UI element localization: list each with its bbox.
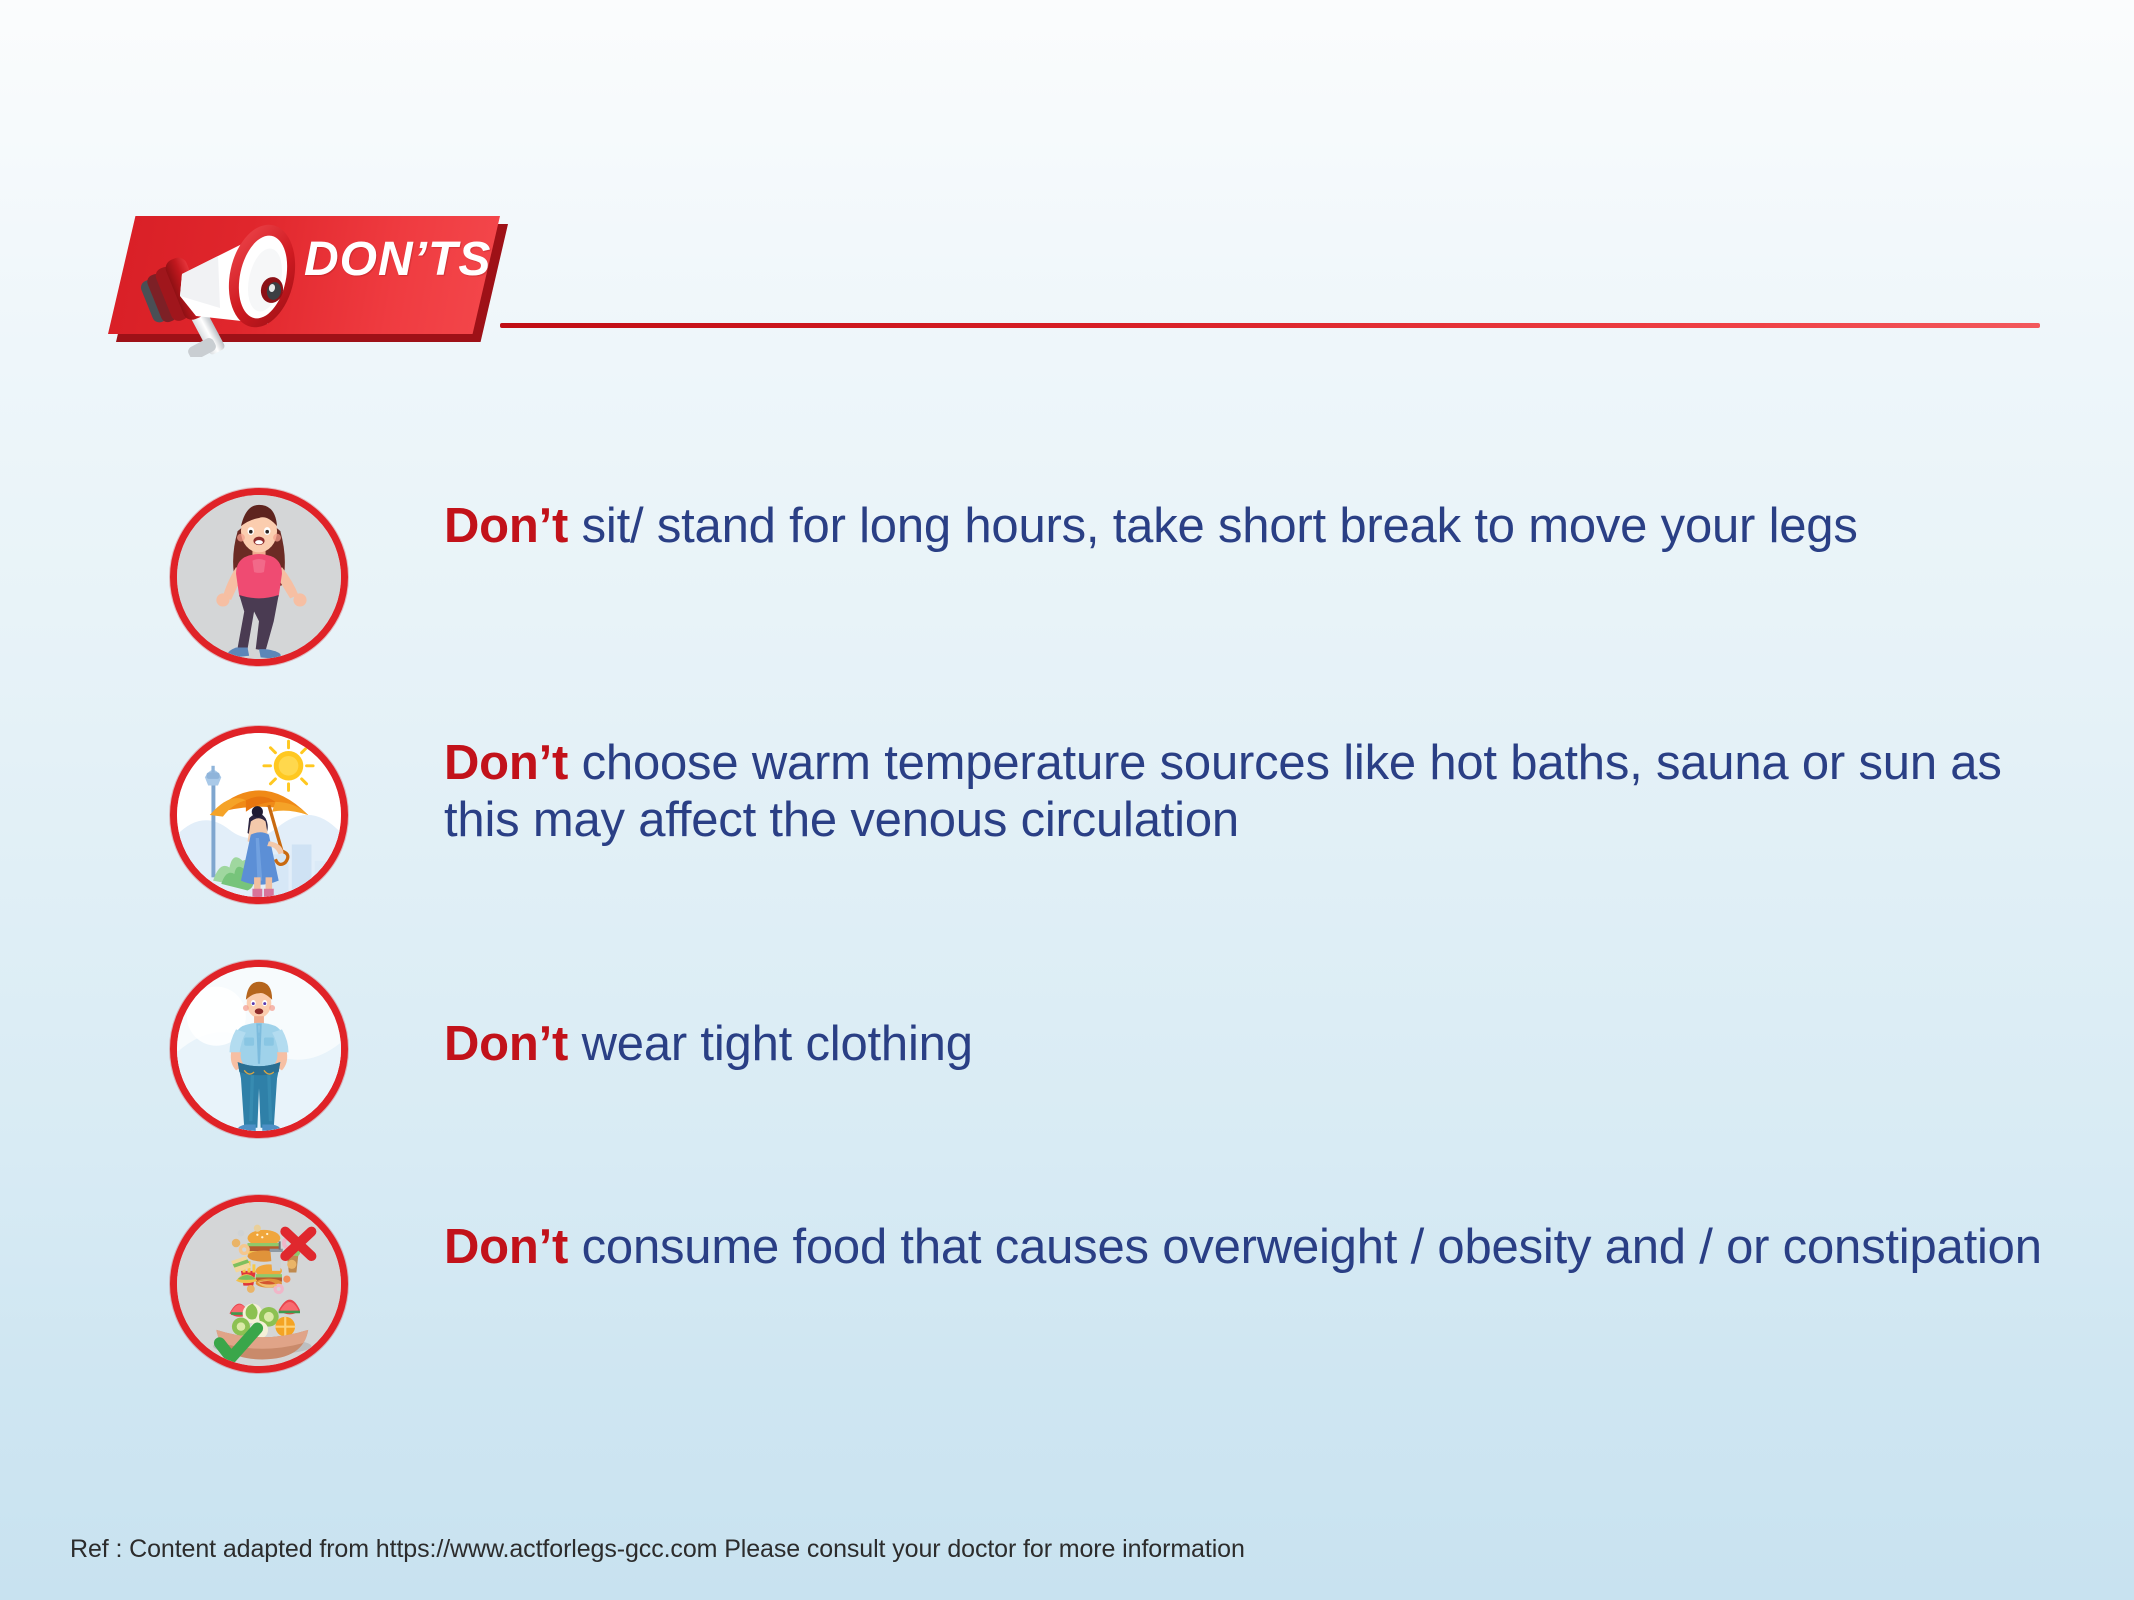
list-item: Don’t consume food that causes overweigh…	[0, 1193, 2134, 1428]
list-item: Don’t wear tight clothing	[0, 958, 2134, 1193]
list-item-text: Don’t wear tight clothing	[444, 958, 2064, 1073]
donts-banner: DON’TS	[108, 200, 508, 340]
list-item-body: sit/ stand for long hours, take short br…	[568, 499, 1857, 553]
list-item-text: Don’t consume food that causes overweigh…	[444, 1193, 2064, 1276]
walking-woman-icon	[170, 488, 348, 666]
header-divider-line	[500, 323, 2040, 328]
list-item-text: Don’t choose warm temperature sources li…	[444, 723, 2064, 849]
list-item-body: choose warm temperature sources like hot…	[444, 736, 2002, 847]
keyword-dont: Don’t	[444, 1220, 568, 1274]
reference-footnote: Ref : Content adapted from https://www.a…	[70, 1535, 1245, 1564]
person-tight-clothing-icon	[170, 960, 348, 1138]
banner-title: DON’TS	[304, 236, 504, 284]
list-item-body: wear tight clothing	[568, 1017, 973, 1071]
list-item: Don’t sit/ stand for long hours, take sh…	[0, 488, 2134, 723]
junk-food-vs-fruit-bowl-icon	[170, 1195, 348, 1373]
woman-with-umbrella-sun-icon	[170, 726, 348, 904]
keyword-dont: Don’t	[444, 736, 568, 790]
page-header: DON’TS	[0, 190, 2134, 360]
list-item-text: Don’t sit/ stand for long hours, take sh…	[444, 488, 2064, 555]
keyword-dont: Don’t	[444, 499, 568, 553]
keyword-dont: Don’t	[444, 1017, 568, 1071]
donts-list: Don’t sit/ stand for long hours, take sh…	[0, 488, 2134, 1428]
list-item: Don’t choose warm temperature sources li…	[0, 723, 2134, 958]
list-item-body: consume food that causes overweight / ob…	[568, 1220, 2042, 1274]
